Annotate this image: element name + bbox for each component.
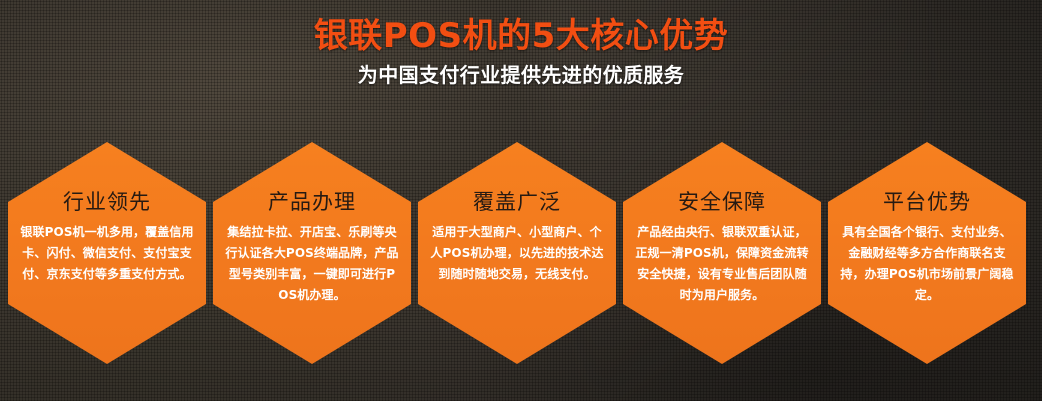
advantage-hexagon-3[interactable]: 覆盖广泛 适用于大型商户、小型商户、个人POS机办理，以先进的技术达到随时随地交… bbox=[418, 142, 616, 364]
advantage-hexagon-1[interactable]: 行业领先 银联POS机一机多用，覆盖信用卡、闪付、微信支付、支付宝支付、京东支付… bbox=[8, 142, 206, 364]
advantage-title: 平台优势 bbox=[840, 188, 1014, 216]
advantage-hexagon-4[interactable]: 安全保障 产品经由央行、银联双重认证，正规一清POS机，保障资金流转安全快捷，设… bbox=[623, 142, 821, 364]
advantage-title: 行业领先 bbox=[20, 188, 194, 216]
promo-banner: 银联POS机的5大核心优势 为中国支付行业提供先进的优质服务 行业领先 银联PO… bbox=[0, 0, 1042, 401]
advantage-title: 安全保障 bbox=[635, 188, 809, 216]
banner-heading-group: 银联POS机的5大核心优势 为中国支付行业提供先进的优质服务 bbox=[0, 16, 1042, 88]
advantage-body: 具有全国各个银行、支付业务、金融财经等多方合作商联名支持，办理POS机市场前景广… bbox=[840, 222, 1014, 306]
advantage-title: 产品办理 bbox=[225, 188, 399, 216]
advantage-body: 银联POS机一机多用，覆盖信用卡、闪付、微信支付、支付宝支付、京东支付等多重支付… bbox=[20, 222, 194, 285]
page-subtitle: 为中国支付行业提供先进的优质服务 bbox=[0, 62, 1042, 88]
page-title: 银联POS机的5大核心优势 bbox=[0, 16, 1042, 56]
advantage-hexagon-2[interactable]: 产品办理 集结拉卡拉、开店宝、乐刷等央行认证各大POS终端品牌，产品型号类别丰富… bbox=[213, 142, 411, 364]
advantage-title: 覆盖广泛 bbox=[430, 188, 604, 216]
advantage-body: 适用于大型商户、小型商户、个人POS机办理，以先进的技术达到随时随地交易，无线支… bbox=[430, 222, 604, 285]
advantage-body: 集结拉卡拉、开店宝、乐刷等央行认证各大POS终端品牌，产品型号类别丰富，一键即可… bbox=[225, 222, 399, 306]
advantage-hexagon-5[interactable]: 平台优势 具有全国各个银行、支付业务、金融财经等多方合作商联名支持，办理POS机… bbox=[828, 142, 1026, 364]
advantages-list: 行业领先 银联POS机一机多用，覆盖信用卡、闪付、微信支付、支付宝支付、京东支付… bbox=[8, 142, 1034, 364]
advantage-body: 产品经由央行、银联双重认证，正规一清POS机，保障资金流转安全快捷，设有专业售后… bbox=[635, 222, 809, 306]
